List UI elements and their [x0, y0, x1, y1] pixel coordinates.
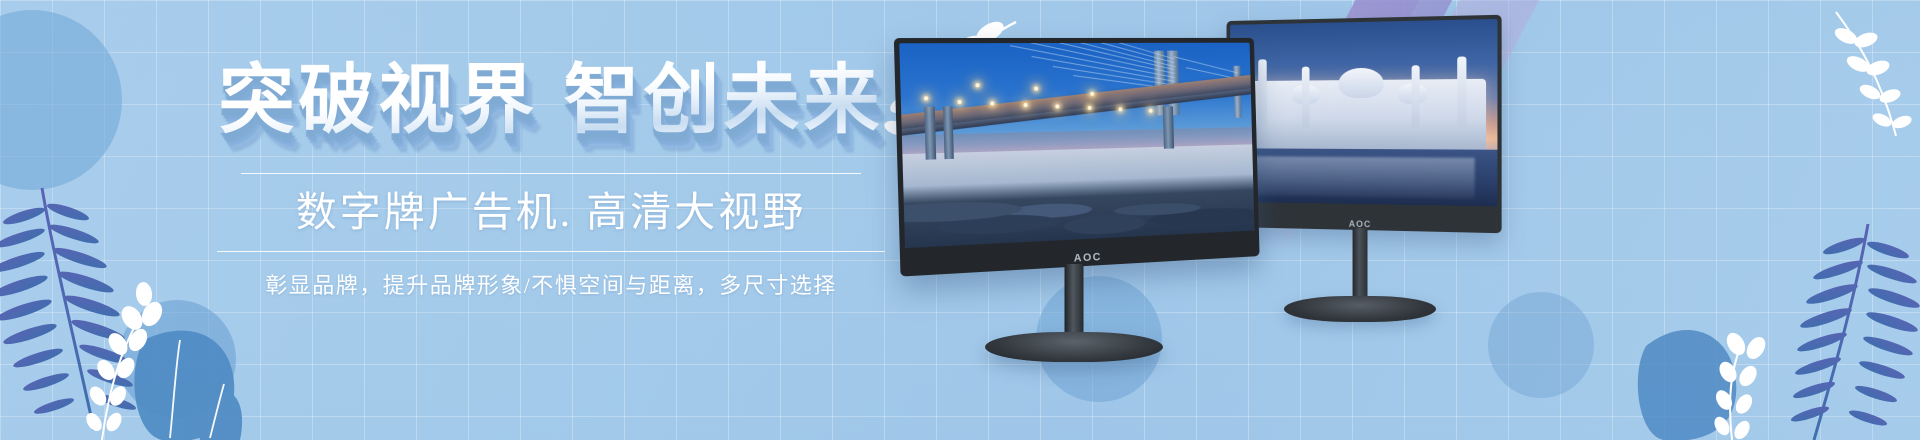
bridge-pier-3: [1163, 106, 1174, 148]
monitor-front-panel: AOC: [894, 38, 1260, 277]
product-showcase: AOC: [880, 0, 1520, 440]
mosque-minaret-3: [1411, 65, 1419, 128]
monitor-back-stand-neck: [1353, 228, 1368, 302]
bridge-pier-2: [943, 106, 954, 159]
headline-text: 突破视界 智创未来: [206, 58, 896, 143]
leaf-spray-right-icon: [1830, 10, 1920, 140]
promo-banner: 突破视界 智创未来 突破视界 智创未来 数字牌广告机. 高清大视野 彰显品牌，提…: [0, 0, 1920, 440]
bridge-pier-1: [924, 106, 937, 159]
monitor-back-screen: [1230, 19, 1497, 206]
banner-headline: 突破视界 智创未来 突破视界 智创未来: [206, 58, 896, 143]
monitor-front-screen: [899, 43, 1254, 248]
mosque-minaret-2: [1302, 66, 1310, 127]
monitor-front-stand-base: [985, 332, 1163, 362]
foliage-cluster-right-icon: [1636, 196, 1920, 440]
banner-subtitle: 数字牌广告机. 高清大视野: [206, 188, 896, 237]
bridge-cable-group: [899, 43, 1249, 44]
mosque-minaret-4: [1457, 57, 1466, 131]
mosque-dome-center: [1339, 67, 1384, 98]
divider-top: [241, 173, 861, 174]
banner-copy-block: 突破视界 智创未来 突破视界 智创未来 数字牌广告机. 高清大视野 彰显品牌，提…: [206, 58, 896, 300]
banner-tagline: 彰显品牌，提升品牌形象/不惧空间与距离，多尺寸选择: [206, 268, 896, 300]
circle-accent-bottom-left: [118, 300, 236, 418]
circle-accent-top-left: [0, 10, 122, 190]
divider-bottom: [217, 251, 885, 252]
monitor-front-stand-neck: [1064, 264, 1083, 338]
monitor-front[interactable]: AOC: [900, 38, 1270, 368]
monitor-back-stand-base: [1284, 296, 1436, 322]
shoreline-rocks: [899, 174, 1254, 248]
bridge-lamp-group: [899, 43, 1249, 44]
mosque-reflection: [1251, 156, 1475, 199]
